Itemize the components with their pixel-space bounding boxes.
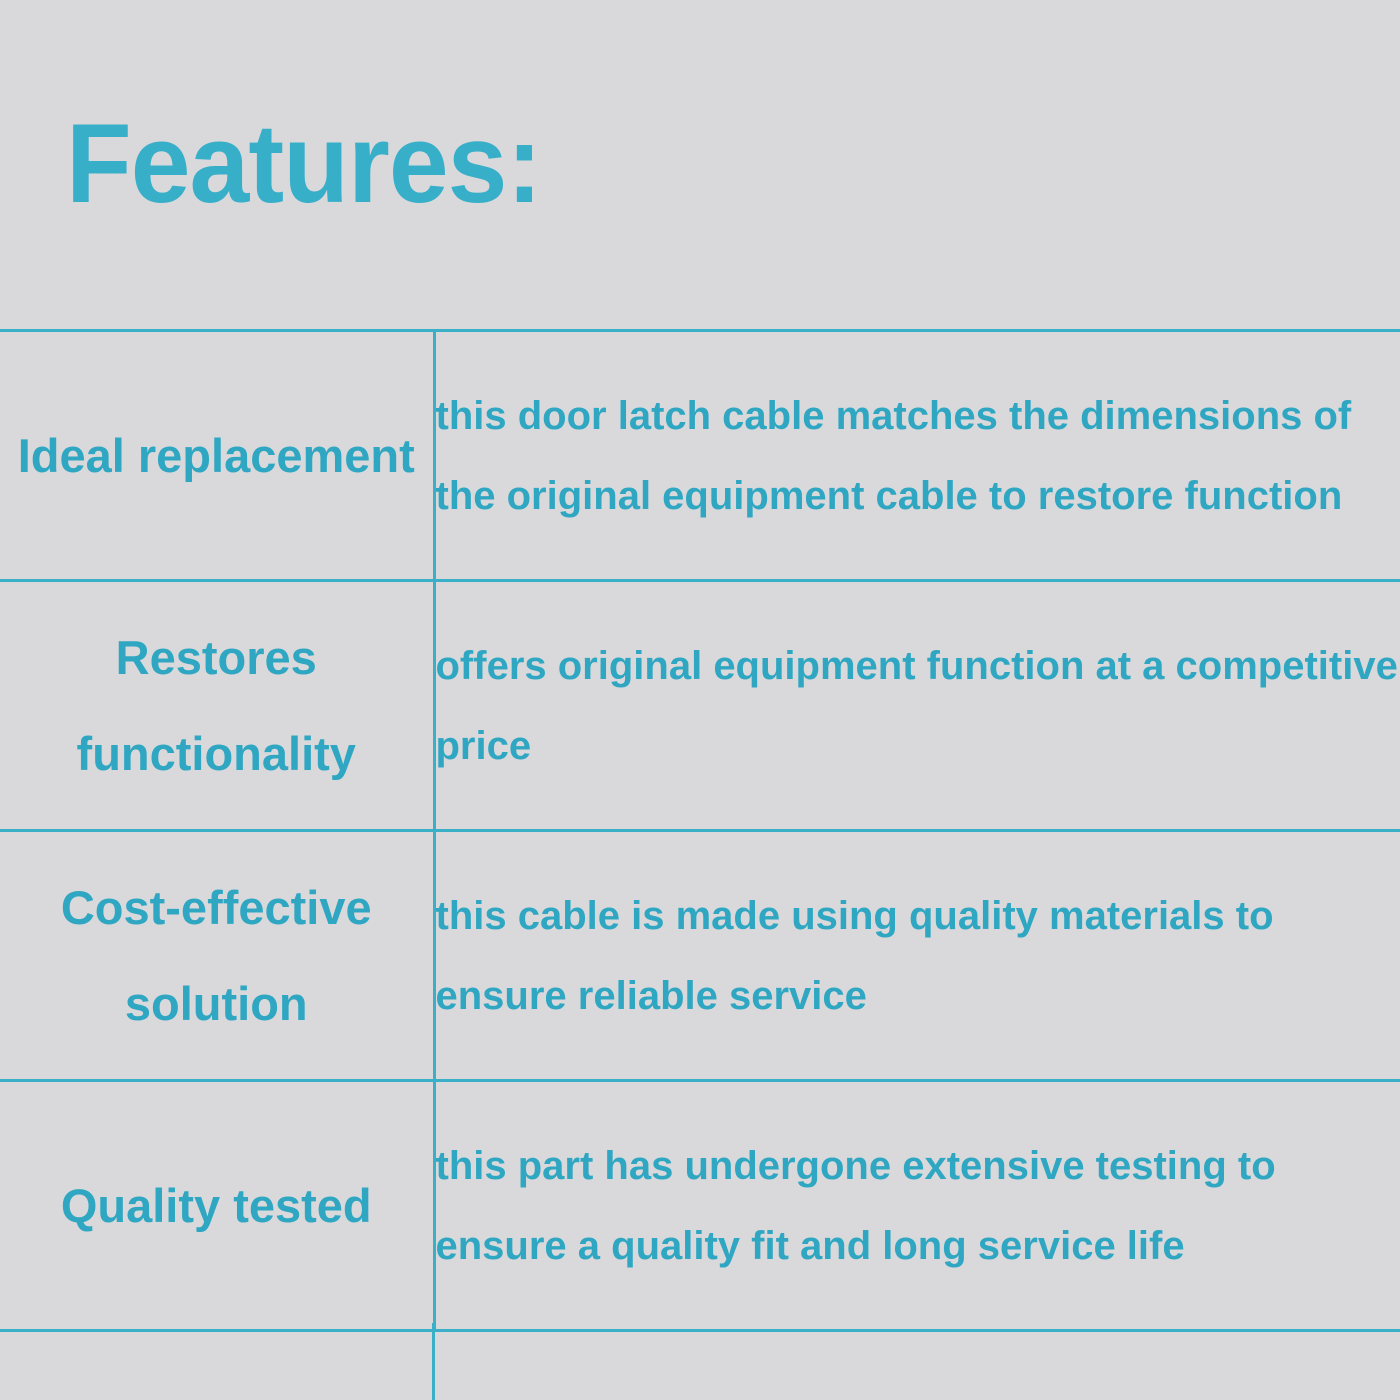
column-divider bbox=[432, 1323, 435, 1400]
feature-label: Restores functionality bbox=[0, 581, 434, 831]
feature-description: this part has undergone extensive testin… bbox=[434, 1081, 1400, 1331]
feature-description: this cable is made using quality materia… bbox=[434, 831, 1400, 1081]
features-page: Features: Ideal replacement this door la… bbox=[0, 0, 1400, 1400]
page-title: Features: bbox=[66, 108, 541, 220]
table-row: Cost-effective solution this cable is ma… bbox=[0, 831, 1400, 1081]
feature-label: Quality tested bbox=[0, 1081, 434, 1331]
feature-label: Cost-effective solution bbox=[0, 831, 434, 1081]
feature-description: offers original equipment function at a … bbox=[434, 581, 1400, 831]
feature-label: Ideal replacement bbox=[0, 331, 434, 581]
table-row: Restores functionality offers original e… bbox=[0, 581, 1400, 831]
table-row: Quality tested this part has undergone e… bbox=[0, 1081, 1400, 1331]
features-table: Ideal replacement this door latch cable … bbox=[0, 329, 1400, 1332]
table-row: Ideal replacement this door latch cable … bbox=[0, 331, 1400, 581]
table-row-partial bbox=[0, 1323, 1400, 1400]
feature-description: this door latch cable matches the dimens… bbox=[434, 331, 1400, 581]
